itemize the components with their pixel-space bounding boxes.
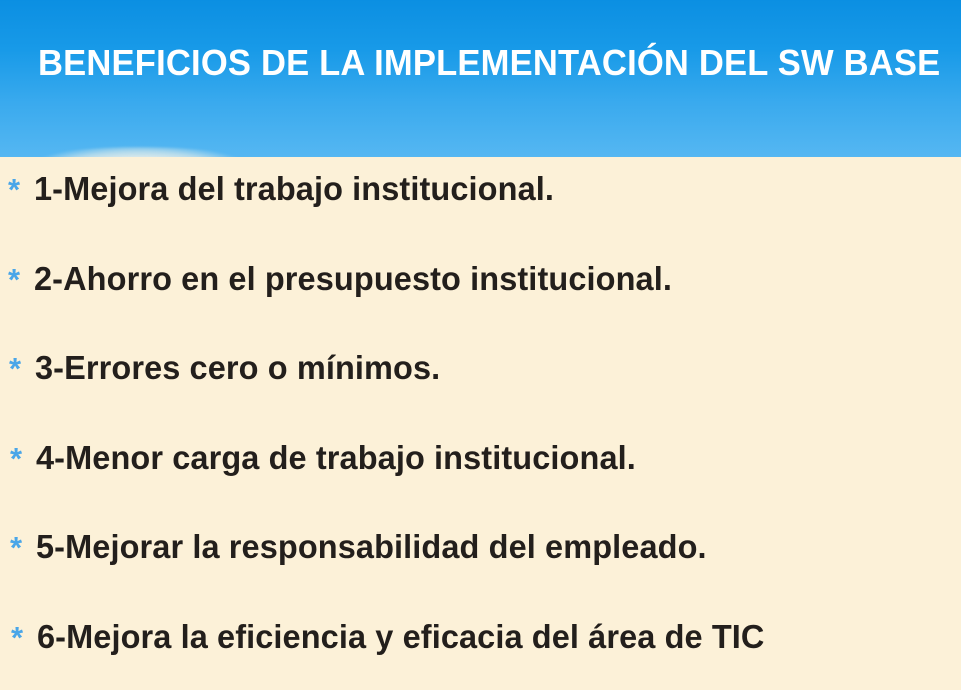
asterisk-bullet-icon: * (10, 443, 36, 474)
list-item-label: 6-Mejora la eficiencia y eficacia del ár… (37, 618, 765, 656)
list-item: * 2-Ahorro en el presupuesto institucion… (8, 260, 682, 298)
presentation-slide: BENEFICIOS DE LA IMPLEMENTACIÓN DEL SW B… (0, 0, 961, 690)
list-item-label: 5-Mejorar la responsabilidad del emplead… (36, 528, 707, 566)
benefits-bullet-list: * 1-Mejora del trabajo institucional. * … (0, 157, 961, 690)
list-item: * 5-Mejorar la responsabilidad del emple… (10, 528, 717, 566)
list-item: * 3-Errores cero o mínimos. (9, 349, 446, 387)
header-arc-decoration (22, 147, 257, 157)
slide-title: BENEFICIOS DE LA IMPLEMENTACIÓN DEL SW B… (38, 42, 892, 84)
list-item: * 1-Mejora del trabajo institucional. (8, 170, 562, 208)
asterisk-bullet-icon: * (10, 532, 36, 563)
slide-header-band: BENEFICIOS DE LA IMPLEMENTACIÓN DEL SW B… (0, 0, 961, 157)
list-item-label: 3-Errores cero o mínimos. (35, 349, 440, 387)
asterisk-bullet-icon: * (8, 174, 34, 205)
asterisk-bullet-icon: * (8, 264, 34, 295)
list-item: * 6-Mejora la eficiencia y eficacia del … (11, 618, 776, 656)
list-item-label: 4-Menor carga de trabajo institucional. (36, 439, 636, 477)
list-item-label: 1-Mejora del trabajo institucional. (34, 170, 554, 208)
asterisk-bullet-icon: * (11, 622, 37, 653)
list-item-label: 2-Ahorro en el presupuesto institucional… (34, 260, 672, 298)
list-item: * 4-Menor carga de trabajo institucional… (10, 439, 645, 477)
asterisk-bullet-icon: * (9, 353, 35, 384)
